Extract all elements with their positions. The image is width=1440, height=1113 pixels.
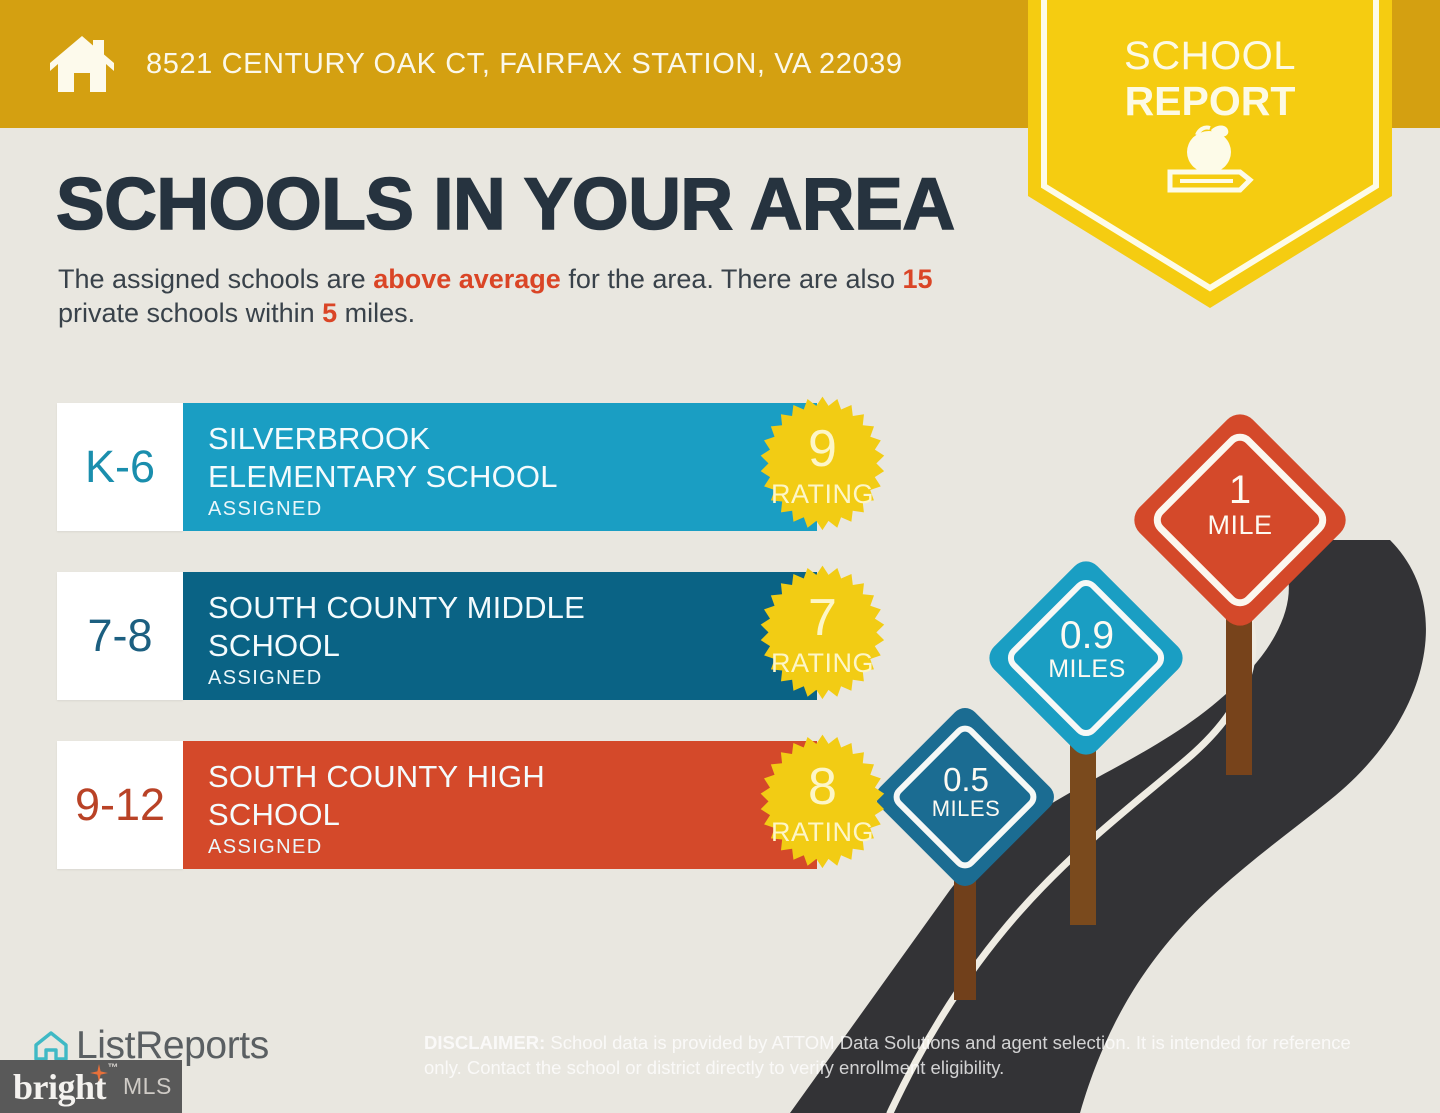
sign-unit-1-mile: MILE xyxy=(1188,510,1292,541)
rating-value: 8 xyxy=(744,761,901,813)
badge-title: SCHOOL REPORT xyxy=(1028,34,1392,124)
rating-badge: 7 RATING xyxy=(744,564,901,721)
disclaimer-label: DISCLAIMER: xyxy=(424,1032,545,1053)
rating-badge: 9 RATING xyxy=(744,395,901,552)
school-info-bar: SOUTH COUNTY HIGH SCHOOL ASSIGNED xyxy=(183,741,817,869)
rating-caption: RATING xyxy=(744,817,901,848)
subtitle-text-2: for the area. There are also xyxy=(561,264,903,294)
subtitle-highlight-private-count: 15 xyxy=(903,264,933,294)
trademark-symbol: ™ xyxy=(108,1062,119,1074)
grade-range-box: K-6 xyxy=(57,403,183,531)
school-report-badge: SCHOOL REPORT xyxy=(1028,0,1392,308)
sign-label-0-5: 0.5 MILES xyxy=(920,763,1012,822)
rating-value: 7 xyxy=(744,592,901,644)
school-name: SOUTH COUNTY MIDDLE SCHOOL xyxy=(208,589,628,665)
school-name: SOUTH COUNTY HIGH SCHOOL xyxy=(208,758,628,834)
header-content: 8521 CENTURY OAK CT, FAIRFAX STATION, VA… xyxy=(46,0,903,128)
school-status: ASSIGNED xyxy=(208,667,817,690)
mls-text: MLS xyxy=(123,1073,172,1100)
subtitle-text-4: miles. xyxy=(337,298,415,328)
school-status: ASSIGNED xyxy=(208,836,817,859)
badge-line-2: REPORT xyxy=(1028,79,1392,124)
sign-unit-0-9: MILES xyxy=(1035,655,1139,684)
grade-range-label: K-6 xyxy=(85,441,155,493)
rating-caption: RATING xyxy=(744,479,901,510)
disclaimer: DISCLAIMER: School data is provided by A… xyxy=(424,1030,1370,1080)
grade-range-label: 9-12 xyxy=(75,779,165,831)
road-illustration: 0.5 MILES 0.9 MILES 1 MILE xyxy=(830,420,1440,1113)
disclaimer-body: School data is provided by ATTOM Data So… xyxy=(424,1032,1351,1078)
sign-label-1-mile: 1 MILE xyxy=(1188,470,1292,541)
sign-label-0-9: 0.9 MILES xyxy=(1035,616,1139,684)
subtitle-text-1: The assigned schools are xyxy=(58,264,373,294)
sign-value-0-5: 0.5 xyxy=(920,763,1012,796)
rating-badge: 8 RATING xyxy=(744,733,901,890)
grade-range-label: 7-8 xyxy=(87,610,152,662)
property-address: 8521 CENTURY OAK CT, FAIRFAX STATION, VA… xyxy=(146,48,903,81)
school-status: ASSIGNED xyxy=(208,498,817,521)
grade-range-box: 7-8 xyxy=(57,572,183,700)
school-name: SILVERBROOK ELEMENTARY SCHOOL xyxy=(208,420,628,496)
bright-mls-watermark: bright ™ MLS xyxy=(0,1060,182,1113)
home-icon xyxy=(46,33,118,95)
grade-range-box: 9-12 xyxy=(57,741,183,869)
subtitle-text-3: private schools within xyxy=(58,298,322,328)
schools-list: K-6 SILVERBROOK ELEMENTARY SCHOOL ASSIGN… xyxy=(57,403,817,910)
star-icon xyxy=(90,1064,108,1082)
sign-unit-0-5: MILES xyxy=(920,796,1012,822)
sign-value-1-mile: 1 xyxy=(1188,470,1292,510)
school-row-middle[interactable]: 7-8 SOUTH COUNTY MIDDLE SCHOOL ASSIGNED … xyxy=(57,572,817,700)
rating-caption: RATING xyxy=(744,648,901,679)
subtitle-highlight-radius: 5 xyxy=(322,298,337,328)
page-title: SCHOOLS IN YOUR AREA xyxy=(56,168,955,241)
rating-value: 9 xyxy=(744,423,901,475)
bright-wordmark: bright ™ xyxy=(13,1066,106,1108)
page-subtitle: The assigned schools are above average f… xyxy=(58,262,1008,330)
school-info-bar: SILVERBROOK ELEMENTARY SCHOOL ASSIGNED xyxy=(183,403,817,531)
sign-value-0-9: 0.9 xyxy=(1035,616,1139,655)
house-outline-icon xyxy=(32,1028,70,1064)
subtitle-highlight-above-average: above average xyxy=(373,264,561,294)
school-row-high[interactable]: 9-12 SOUTH COUNTY HIGH SCHOOL ASSIGNED 8… xyxy=(57,741,817,869)
school-info-bar: SOUTH COUNTY MIDDLE SCHOOL ASSIGNED xyxy=(183,572,817,700)
badge-line-1: SCHOOL xyxy=(1028,34,1392,79)
school-row-elementary[interactable]: K-6 SILVERBROOK ELEMENTARY SCHOOL ASSIGN… xyxy=(57,403,817,531)
